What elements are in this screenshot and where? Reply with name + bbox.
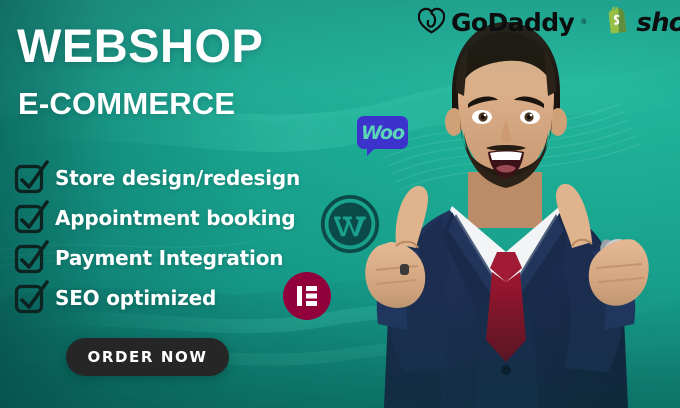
order-now-button[interactable]: ORDER NOW: [66, 338, 229, 376]
list-item: Store design/redesign: [14, 158, 300, 198]
checkbox-checked-icon: [14, 162, 46, 194]
elementor-icon: [283, 272, 331, 320]
woocommerce-label: Woo: [361, 122, 404, 144]
list-item-label: Store design/redesign: [55, 166, 300, 190]
order-now-label: ORDER NOW: [87, 348, 207, 366]
godaddy-heart-icon: [418, 7, 445, 39]
page-subtitle: E-COMMERCE: [18, 88, 235, 119]
godaddy-trademark: ®: [581, 19, 586, 26]
list-item-label: Appointment booking: [55, 206, 295, 230]
checkbox-checked-icon: [14, 242, 46, 274]
list-item: Appointment booking: [14, 198, 300, 238]
woocommerce-icon: Woo: [357, 116, 408, 149]
model-photo: [356, 0, 680, 408]
godaddy-wordmark: GoDaddy: [451, 8, 574, 37]
wordpress-icon: [320, 194, 380, 254]
shopify-wordmark: shopify: [636, 8, 680, 38]
checkbox-checked-icon: [14, 282, 46, 314]
list-item: Payment Integration: [14, 238, 300, 278]
list-item-label: SEO optimized: [55, 286, 216, 310]
shopify-bag-icon: [604, 6, 629, 39]
checkbox-checked-icon: [14, 202, 46, 234]
godaddy-logo: GoDaddy ®: [418, 7, 586, 39]
advertisement-banner: GoDaddy ® shopify WEBSHOP E-COMMERCE: [0, 0, 680, 408]
page-title: WEBSHOP: [17, 22, 263, 69]
feature-list: Store design/redesign Appointment bookin…: [14, 158, 300, 318]
shopify-logo: shopify: [604, 6, 680, 39]
list-item: SEO optimized: [14, 278, 300, 318]
brand-logo-row: GoDaddy ® shopify: [418, 6, 680, 39]
list-item-label: Payment Integration: [55, 246, 283, 270]
